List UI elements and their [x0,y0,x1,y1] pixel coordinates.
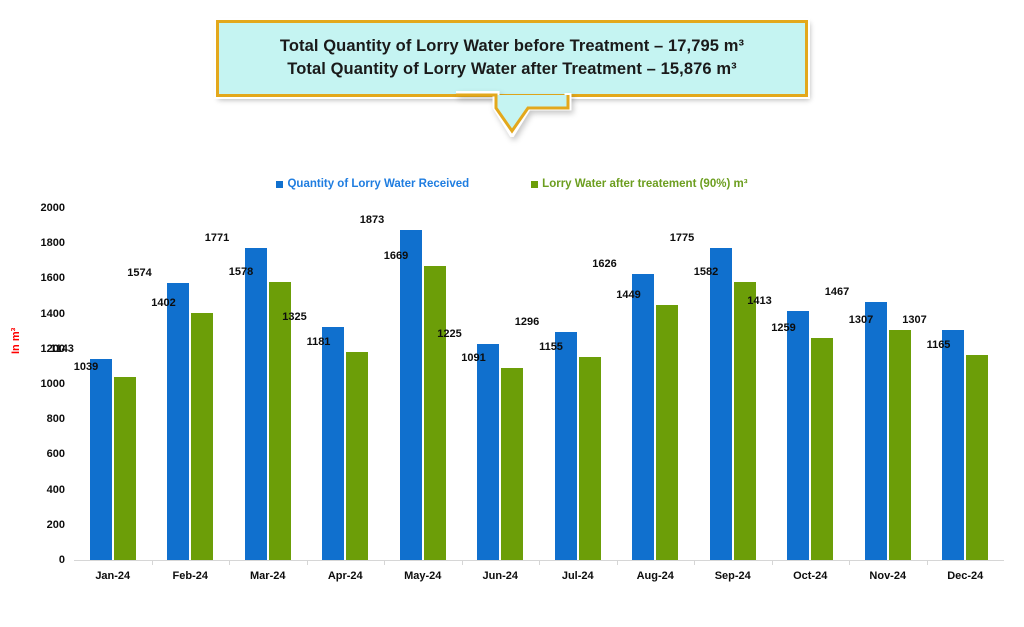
x-axis-tick-mark [307,560,308,565]
y-axis-tick-label: 800 [47,413,65,425]
legend-label-series-2: Lorry Water after treatement (90%) m³ [542,178,747,190]
y-axis-tick-label: 1600 [41,272,65,284]
y-axis-tick-label: 1800 [41,237,65,249]
callout-line-after: Total Quantity of Lorry Water after Trea… [233,58,791,81]
bar-value-label-treated: 1449 [616,289,640,301]
bar-value-label-received: 1296 [515,316,539,328]
bar-value-label-received: 1467 [825,286,849,298]
x-axis-tick-label: Feb-24 [152,570,230,582]
x-axis-tick-mark [384,560,385,565]
x-axis-tick-label: Aug-24 [617,570,695,582]
x-axis-tick-mark [462,560,463,565]
y-axis-title: In m³ [10,328,22,354]
bar-value-label-received: 1574 [127,267,151,279]
bar-value-label-received: 1325 [282,311,306,323]
chart-legend: Quantity of Lorry Water Received Lorry W… [0,178,1024,190]
bar-group: 13071165Dec-24 [927,208,1005,560]
x-axis-tick-label: Jan-24 [74,570,152,582]
x-axis-tick-label: Dec-24 [927,570,1005,582]
bar-value-label-received: 1225 [437,328,461,340]
bar-group: 18731669May-24 [384,208,462,560]
bar-value-label-treated: 1091 [461,352,485,364]
bar-treated[interactable] [191,313,213,560]
bar-value-label-treated: 1039 [74,361,98,373]
bar-value-label-received: 1143 [50,343,74,355]
bar-received[interactable] [245,248,267,560]
x-axis-tick-mark [772,560,773,565]
bar-received[interactable] [167,283,189,560]
x-axis-tick-mark [539,560,540,565]
bar-group: 13251181Apr-24 [307,208,385,560]
bar-received[interactable] [710,248,732,560]
summary-callout: Total Quantity of Lorry Water before Tre… [216,20,808,97]
bar-treated[interactable] [346,352,368,560]
callout-line-before: Total Quantity of Lorry Water before Tre… [233,35,791,58]
y-axis-tick-label: 400 [47,484,65,496]
bar-value-label-treated: 1259 [771,322,795,334]
bar-treated[interactable] [966,355,988,560]
x-axis-tick-label: Jul-24 [539,570,617,582]
bar-received[interactable] [865,302,887,560]
callout-arrow-down-icon [452,91,572,137]
y-axis-tick-label: 600 [47,448,65,460]
legend-swatch-green [531,181,538,188]
bar-treated[interactable] [114,377,136,560]
bar-treated[interactable] [734,282,756,560]
bar-treated[interactable] [501,368,523,560]
x-axis-tick-label: Nov-24 [849,570,927,582]
legend-swatch-blue [276,181,283,188]
bar-value-label-received: 1307 [902,314,926,326]
y-axis-tick-label: 2000 [41,202,65,214]
bar-treated[interactable] [811,338,833,560]
bar-group: 14671307Nov-24 [849,208,927,560]
x-axis-tick-mark [849,560,850,565]
x-axis-tick-mark [694,560,695,565]
y-axis-tick-label: 1000 [41,378,65,390]
legend-item-series-1[interactable]: Quantity of Lorry Water Received [276,178,469,190]
bar-treated[interactable] [424,266,446,560]
bar-received[interactable] [942,330,964,560]
bar-value-label-treated: 1669 [384,250,408,262]
plot-area: 2000180016001400120010008006004002000 11… [74,208,1004,560]
legend-item-series-2[interactable]: Lorry Water after treatement (90%) m³ [531,178,747,190]
bar-value-label-received: 1626 [592,258,616,270]
bar-group: 16261449Aug-24 [617,208,695,560]
bar-group: 12251091Jun-24 [462,208,540,560]
bar-received[interactable] [322,327,344,560]
y-axis-tick-label: 0 [59,554,65,566]
bar-group: 11431039Jan-24 [74,208,152,560]
legend-label-series-1: Quantity of Lorry Water Received [287,178,469,190]
bar-treated[interactable] [656,305,678,560]
bar-value-label-treated: 1402 [151,297,175,309]
bar-group: 14131259Oct-24 [772,208,850,560]
x-axis-tick-label: Jun-24 [462,570,540,582]
y-axis-tick-label: 1400 [41,308,65,320]
bar-value-label-treated: 1307 [849,314,873,326]
x-axis-tick-mark [152,560,153,565]
bar-received[interactable] [477,344,499,560]
x-axis-tick-mark [229,560,230,565]
x-axis-tick-label: Oct-24 [772,570,850,582]
summary-callout-box: Total Quantity of Lorry Water before Tre… [216,20,808,97]
bar-value-label-treated: 1165 [927,339,951,351]
bar-received[interactable] [90,359,112,560]
bar-value-label-treated: 1155 [539,341,563,353]
bar-group: 17751582Sep-24 [694,208,772,560]
bar-value-label-treated: 1578 [229,266,253,278]
x-axis-tick-label: Apr-24 [307,570,385,582]
x-axis-tick-mark [927,560,928,565]
bar-value-label-received: 1873 [360,214,384,226]
x-axis-tick-label: Mar-24 [229,570,307,582]
bar-treated[interactable] [889,330,911,560]
bar-received[interactable] [400,230,422,560]
x-axis-tick-mark [617,560,618,565]
bar-group: 15741402Feb-24 [152,208,230,560]
bar-group: 17711578Mar-24 [229,208,307,560]
bar-value-label-received: 1413 [747,295,771,307]
bar-value-label-treated: 1181 [307,336,331,348]
bar-chart: Quantity of Lorry Water Received Lorry W… [0,170,1024,620]
bar-value-label-received: 1775 [670,232,694,244]
y-axis-tick-label: 200 [47,519,65,531]
bar-value-label-received: 1771 [205,232,229,244]
bar-value-label-treated: 1582 [694,266,718,278]
x-axis-tick-label: Sep-24 [694,570,772,582]
bar-treated[interactable] [579,357,601,560]
bar-received[interactable] [555,332,577,560]
bar-received[interactable] [632,274,654,560]
bar-received[interactable] [787,311,809,560]
bar-treated[interactable] [269,282,291,560]
x-axis-tick-label: May-24 [384,570,462,582]
